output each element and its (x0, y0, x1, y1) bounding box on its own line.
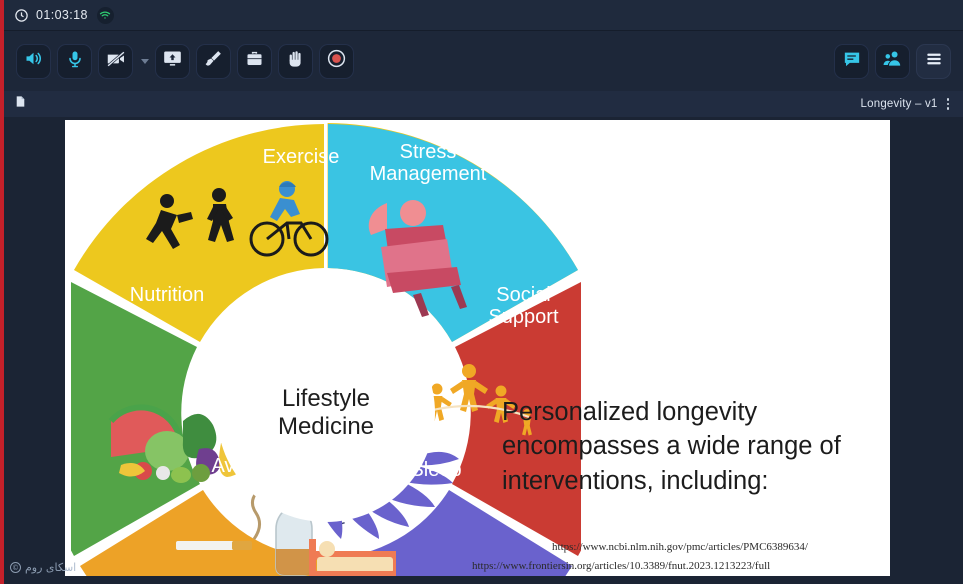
watermark-text: اسکای روم (25, 561, 76, 574)
reference-link-2[interactable]: https://www.frontiersin.org/articles/10.… (472, 557, 890, 576)
files-button[interactable] (237, 44, 272, 79)
briefcase-icon (244, 48, 265, 74)
wheel-center-label: Lifestyle Medicine (278, 385, 374, 441)
bottom-strip (4, 576, 963, 584)
meeting-window: 01:03:18 (0, 0, 963, 584)
raise-hand-button[interactable] (278, 44, 313, 79)
watermark: اسکای روم © (10, 561, 76, 574)
lifestyle-medicine-wheel: z z z (71, 121, 581, 584)
screen-share-button[interactable] (155, 44, 190, 79)
wheel-center-hub: Lifestyle Medicine (217, 304, 435, 522)
menu-button[interactable] (916, 44, 951, 79)
file-icon (14, 94, 27, 114)
document-bar: Longevity – v1 (4, 91, 963, 117)
kebab-menu-icon[interactable] (947, 98, 950, 110)
hand-icon (285, 48, 306, 74)
slide-stage: z z z (4, 117, 963, 584)
status-bar: 01:03:18 (4, 0, 963, 31)
hamburger-icon (924, 49, 944, 74)
toolbar-left-group (16, 44, 354, 79)
slide-body-text: Personalized longevity encompasses a wid… (502, 395, 874, 498)
wifi-signal-icon (97, 7, 114, 24)
screen-share-icon (162, 48, 183, 74)
elapsed-time: 01:03:18 (36, 8, 88, 22)
brush-icon (203, 48, 224, 74)
microphone-button[interactable] (57, 44, 92, 79)
record-icon (326, 48, 347, 74)
document-title: Longevity – v1 (861, 98, 938, 110)
reference-link-1[interactable]: https://www.ncbi.nlm.nih.gov/pmc/article… (470, 538, 890, 557)
camera-button[interactable] (98, 44, 133, 79)
toolbar-right-group (834, 44, 951, 79)
chat-button[interactable] (834, 44, 869, 79)
microphone-icon (65, 49, 85, 74)
camera-off-icon (105, 48, 127, 75)
chat-icon (842, 49, 862, 74)
speaker-icon (23, 48, 44, 74)
recording-indicator-stripe (0, 0, 4, 584)
whiteboard-button[interactable] (196, 44, 231, 79)
presentation-slide[interactable]: z z z (65, 120, 890, 584)
copyright-icon: © (10, 562, 21, 573)
participants-button[interactable] (875, 44, 910, 79)
chevron-down-icon[interactable] (141, 59, 149, 64)
people-icon (882, 48, 903, 74)
slide-references: https://www.ncbi.nlm.nih.gov/pmc/article… (470, 538, 890, 577)
speaker-button[interactable] (16, 44, 51, 79)
record-button[interactable] (319, 44, 354, 79)
clock-icon (14, 8, 29, 23)
meeting-toolbar (4, 31, 963, 91)
